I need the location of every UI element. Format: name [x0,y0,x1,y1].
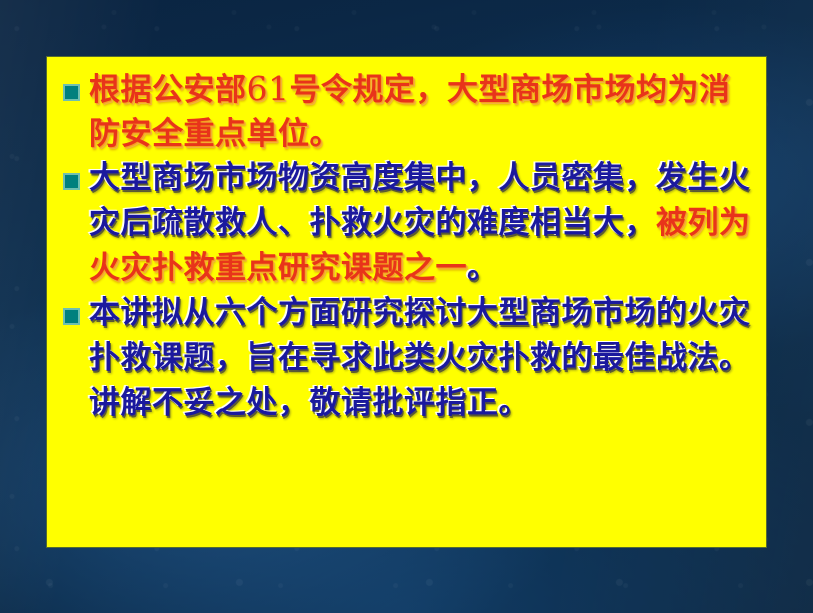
bullet-item-2: 大型商场市场物资高度集中，人员密集，发生火灾后疏散救人、扑救火灾的难度相当大，被… [55,156,760,291]
bullet-item-3-text: 本讲拟从六个方面研究探讨大型商场市场的火灾扑救课题，旨在寻求此类火灾扑救的最佳战… [89,291,760,426]
bullet-2-run-3: 。 [467,250,499,286]
square-bullet-icon [63,84,80,101]
bullet-2-run-1: 大型商场市场物资高度集中，人员密集，发生火灾后疏散救人、扑救火灾的难度相当大， [89,160,751,241]
bullet-3-run-1: 本讲拟从六个方面研究探讨大型商场市场的火灾扑救课题，旨在寻求此类火灾扑救的最佳战… [89,295,751,421]
bullet-1-run-1: 根据公安部 [89,72,247,108]
square-bullet-icon [63,308,80,325]
bullet-1-run-3: 号令规定， [290,72,448,108]
content-panel: 根据公安部61号令规定，大型商场市场均为消防安全重点单位。 大型商场市场物资高度… [46,56,767,548]
bullet-item-3: 本讲拟从六个方面研究探讨大型商场市场的火灾扑救课题，旨在寻求此类火灾扑救的最佳战… [55,291,760,426]
square-bullet-icon [63,173,80,190]
bullet-item-1: 根据公安部61号令规定，大型商场市场均为消防安全重点单位。 [55,67,760,156]
slide-canvas: 根据公安部61号令规定，大型商场市场均为消防安全重点单位。 大型商场市场物资高度… [0,0,813,613]
bullet-item-1-text: 根据公安部61号令规定，大型商场市场均为消防安全重点单位。 [89,67,760,156]
bullet-item-2-text: 大型商场市场物资高度集中，人员密集，发生火灾后疏散救人、扑救火灾的难度相当大，被… [89,156,760,291]
bullet-1-run-number: 61 [247,69,290,108]
